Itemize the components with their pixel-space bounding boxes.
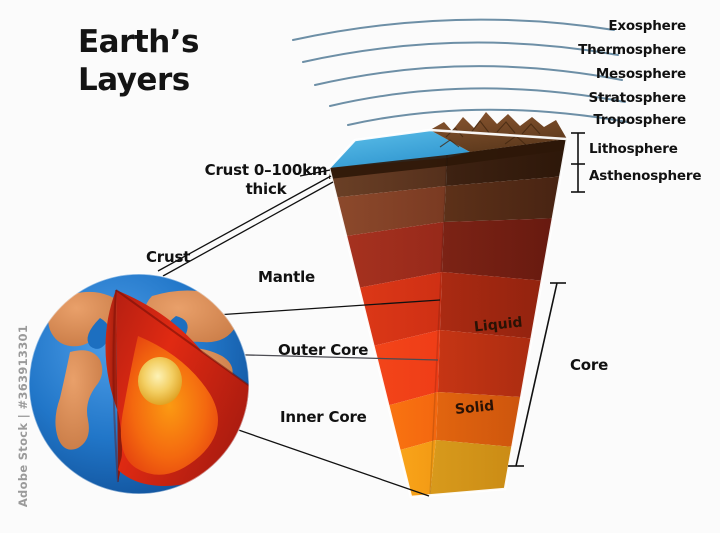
page-title-line2: Layers: [78, 62, 199, 100]
earth-layers-diagram: Earth’s Layers Exosphere Thermosphere Me…: [0, 0, 720, 533]
arc-stratosphere: [330, 88, 625, 106]
arc-mesosphere: [315, 66, 622, 85]
globe-cut-inner-core: [138, 357, 182, 405]
watermark-adobe-stock: Adobe Stock | #363913301: [16, 316, 30, 516]
page-title-line1: Earth’s: [78, 24, 199, 62]
label-troposphere: Troposphere: [593, 112, 686, 128]
label-inner-core: Inner Core: [280, 408, 367, 426]
bracket-lithosphere: [571, 133, 585, 164]
label-core: Core: [570, 356, 608, 374]
arc-exosphere: [293, 20, 614, 40]
label-mantle: Mantle: [258, 268, 315, 286]
atmosphere-arcs: [293, 20, 627, 125]
earth-globe: [29, 274, 258, 494]
callout-crust-thickness-line1: Crust 0–100km: [191, 161, 341, 180]
page-title: Earth’s Layers: [78, 24, 199, 100]
wedge-layer2-right: [442, 218, 563, 282]
label-thermosphere: Thermosphere: [578, 42, 686, 58]
label-outer-core: Outer Core: [278, 341, 368, 359]
label-stratosphere: Stratosphere: [588, 90, 686, 106]
label-crust: Crust: [146, 248, 190, 266]
bracket-asthenosphere: [571, 164, 585, 192]
label-exosphere: Exosphere: [608, 18, 686, 34]
callout-crust-thickness-line2: thick: [191, 180, 341, 199]
label-mesosphere: Mesosphere: [596, 66, 686, 82]
label-lithosphere: Lithosphere: [589, 141, 678, 157]
callout-crust-thickness: Crust 0–100km thick: [191, 161, 341, 199]
label-asthenosphere: Asthenosphere: [589, 168, 701, 184]
arc-thermosphere: [303, 43, 618, 62]
